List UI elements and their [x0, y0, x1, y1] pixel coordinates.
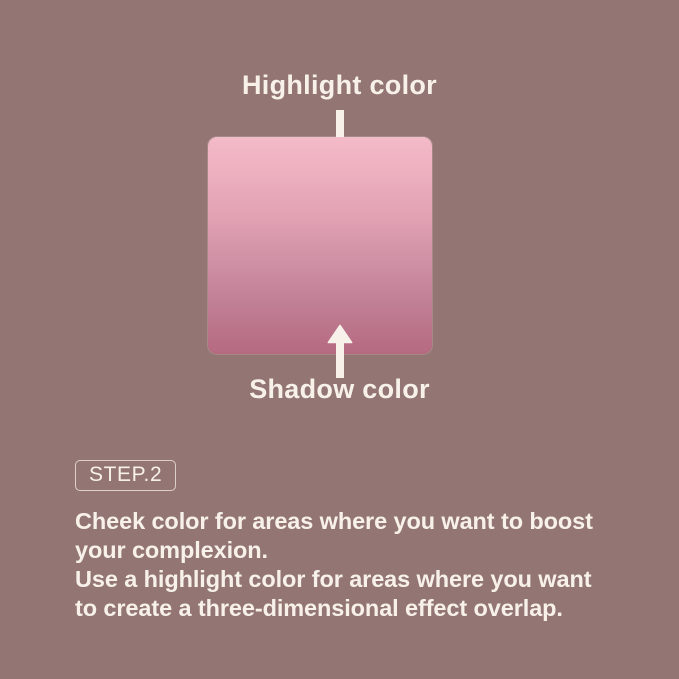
step-badge: STEP.2 [75, 460, 176, 491]
caption-line: to create a three-dimensional effect ove… [75, 594, 635, 623]
shadow-color-label: Shadow color [0, 376, 679, 403]
caption-block: STEP.2 Cheek color for areas where you w… [75, 460, 635, 623]
highlight-color-label: Highlight color [0, 72, 679, 99]
diagram-stage: Highlight color Shadow color STEP.2 Chee… [0, 0, 679, 679]
caption-line: your complexion. [75, 536, 635, 565]
caption-text: Cheek color for areas where you want to … [75, 507, 635, 623]
caption-line: Cheek color for areas where you want to … [75, 507, 635, 536]
arrow-up-icon [318, 320, 362, 378]
caption-line: Use a highlight color for areas where yo… [75, 565, 635, 594]
